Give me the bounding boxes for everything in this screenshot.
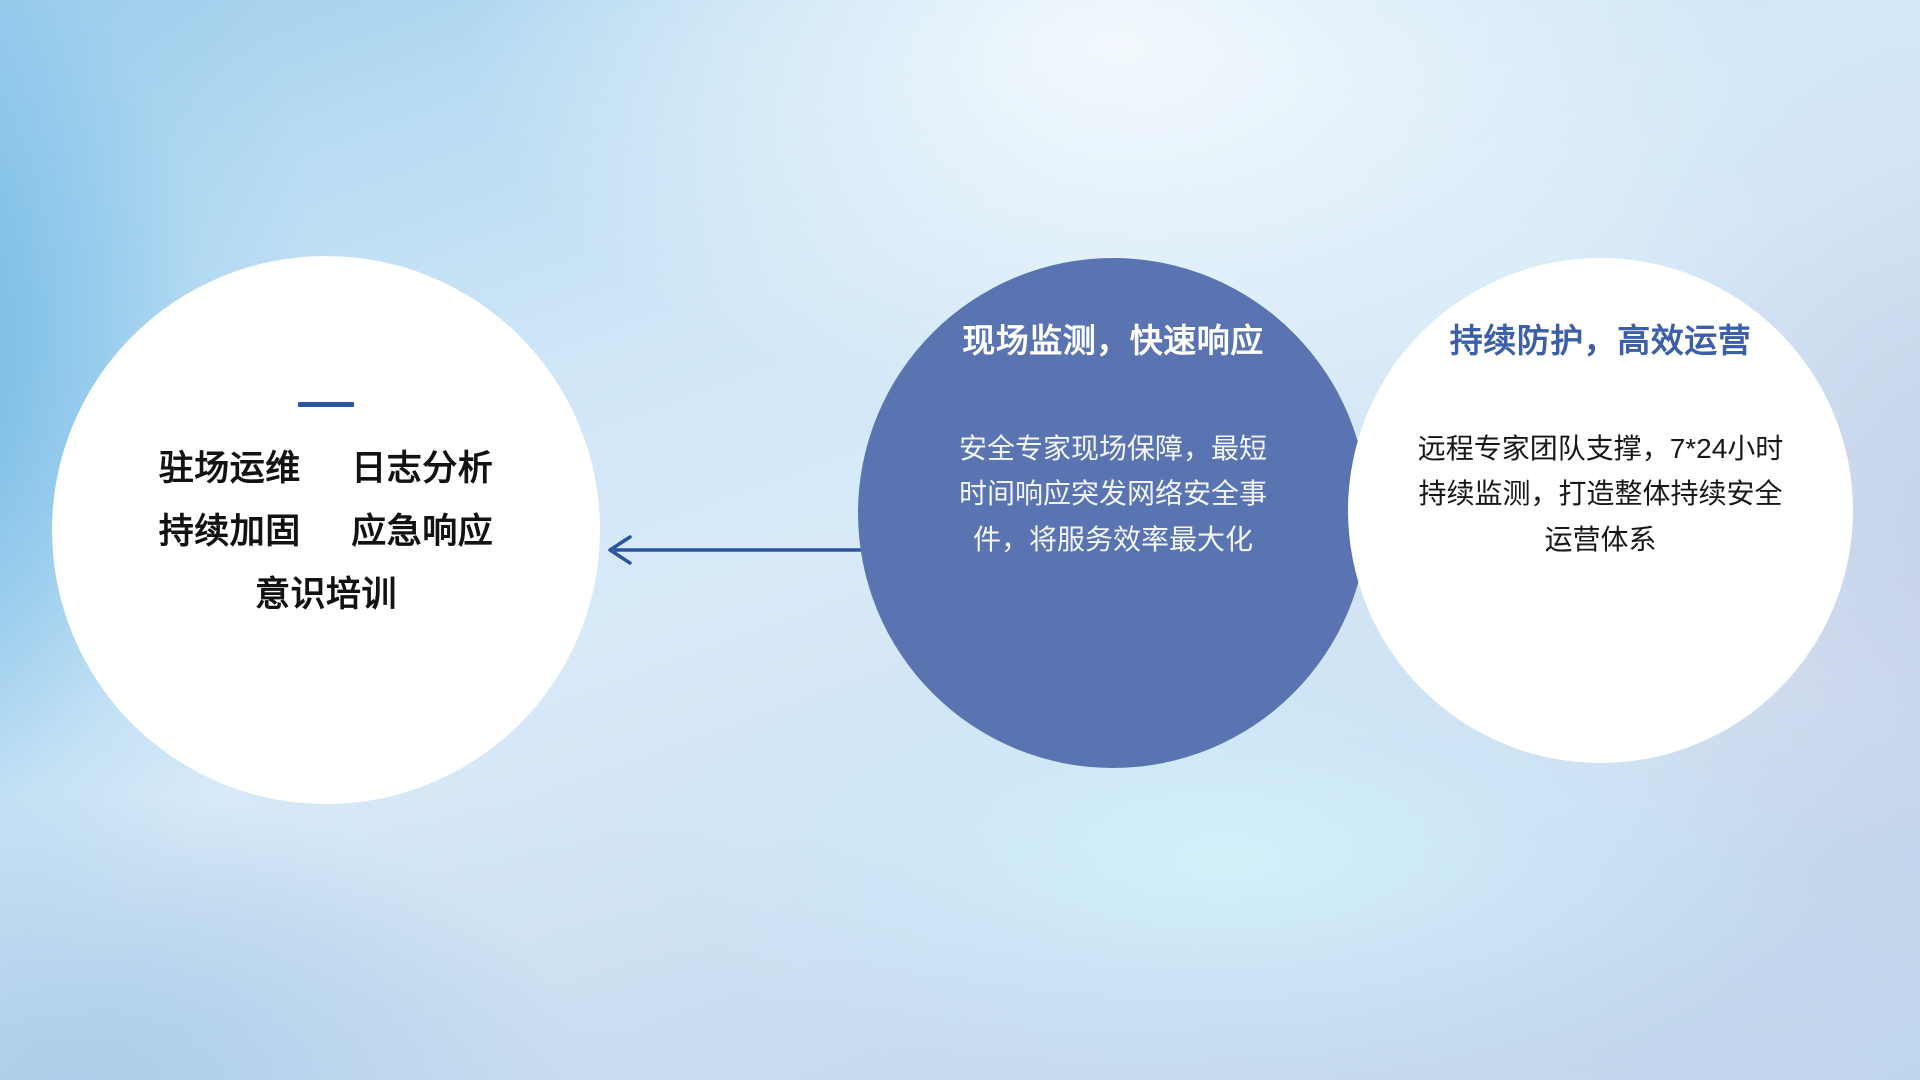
arrow-left-icon [590, 510, 900, 590]
keyword-row: 意识培训 [52, 577, 600, 612]
node-onsite-title: 现场监测，快速响应 [962, 314, 1264, 362]
keyword-item: 应急响应 [351, 512, 493, 551]
node-continuous-circle[interactable]: 持续防护，高效运营 远程专家团队支撑，7*24小时持续监测，打造整体持续安全运营… [1348, 258, 1853, 763]
node-continuous-body: 远程专家团队支撑，7*24小时持续监测，打造整体持续安全运营体系 [1416, 426, 1786, 562]
diagram-canvas: 驻场运维 日志分析 持续加固 应急响应 意识培训 现场监测，快速响应 安全专家现… [0, 0, 1920, 1080]
title-divider-dash [298, 402, 354, 407]
keyword-item: 意识培训 [255, 575, 397, 614]
node-onsite-circle[interactable]: 现场监测，快速响应 安全专家现场保障，最短时间响应突发网络安全事件，将服务效率最… [858, 258, 1368, 768]
keyword-row: 持续加固 应急响应 [52, 514, 600, 549]
node-continuous-title: 持续防护，高效运营 [1450, 314, 1752, 362]
node-onsite-body: 安全专家现场保障，最短时间响应突发网络安全事件，将服务效率最大化 [958, 426, 1268, 562]
keyword-row: 驻场运维 日志分析 [52, 451, 600, 486]
keyword-item: 日志分析 [351, 449, 493, 488]
keyword-item: 持续加固 [159, 512, 301, 551]
keyword-list: 驻场运维 日志分析 持续加固 应急响应 意识培训 [52, 451, 600, 612]
node-keywords-circle[interactable]: 驻场运维 日志分析 持续加固 应急响应 意识培训 [52, 256, 600, 804]
keyword-item: 驻场运维 [159, 449, 301, 488]
